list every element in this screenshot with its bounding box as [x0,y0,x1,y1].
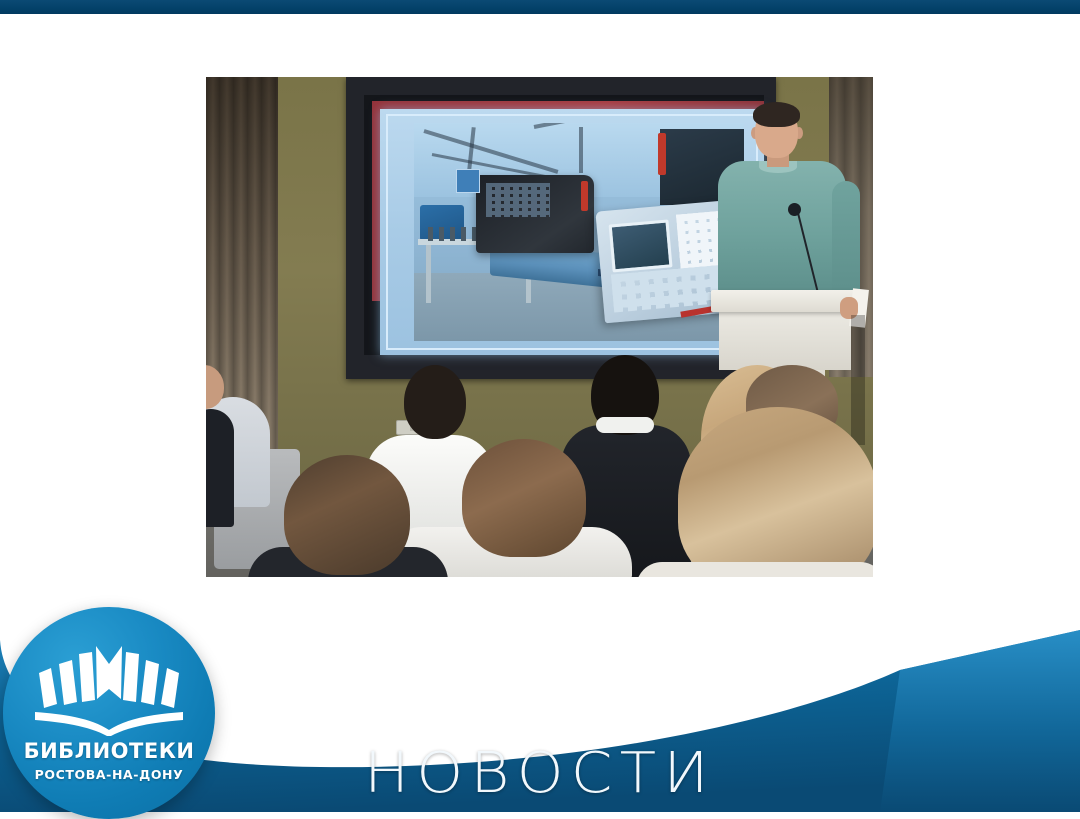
lathe-keypad [486,183,550,217]
projection-screen-surface [364,95,764,355]
bench-leg [426,245,431,303]
open-book-icon [33,642,185,736]
speaker-torso [718,161,846,293]
speaker-arm [832,181,860,299]
library-logo-subtitle: РОСТОВА-НА-ДОНУ [3,767,215,782]
page-canvas: НОВОСТИ БИБЛИОТЕКИ РОСТОВА-НА-ДОНУ [0,14,1080,798]
visitor-shirt [636,562,873,577]
podium-desktop [711,290,859,312]
visitor-hair [678,407,873,577]
cnc-display [609,219,673,272]
student-hair [284,455,410,575]
microphone-capsule [788,203,801,216]
workshop-red-accent [658,133,666,175]
student-vest [206,409,234,527]
top-accent-bar [0,0,1080,14]
photo-scene [206,77,873,577]
cnc-lathe-body [476,175,594,253]
student-head [404,365,466,439]
lathe-info-plate [456,169,480,193]
projection-screen [346,77,776,379]
student-collar [596,417,654,433]
slide-sheet [380,109,764,355]
podium-shadow [851,315,865,445]
roof-column [579,127,583,173]
library-logo[interactable]: БИБЛИОТЕКИ РОСТОВА-НА-ДОНУ [3,607,215,819]
speaker-hair [753,102,800,127]
library-logo-name: БИБЛИОТЕКИ [3,739,215,763]
news-photo [206,77,873,577]
student-hair [462,439,586,557]
slide-photo-cnc-workshop [414,123,744,341]
podium-front-panel [719,312,851,370]
lathe-red-accent [581,181,588,211]
